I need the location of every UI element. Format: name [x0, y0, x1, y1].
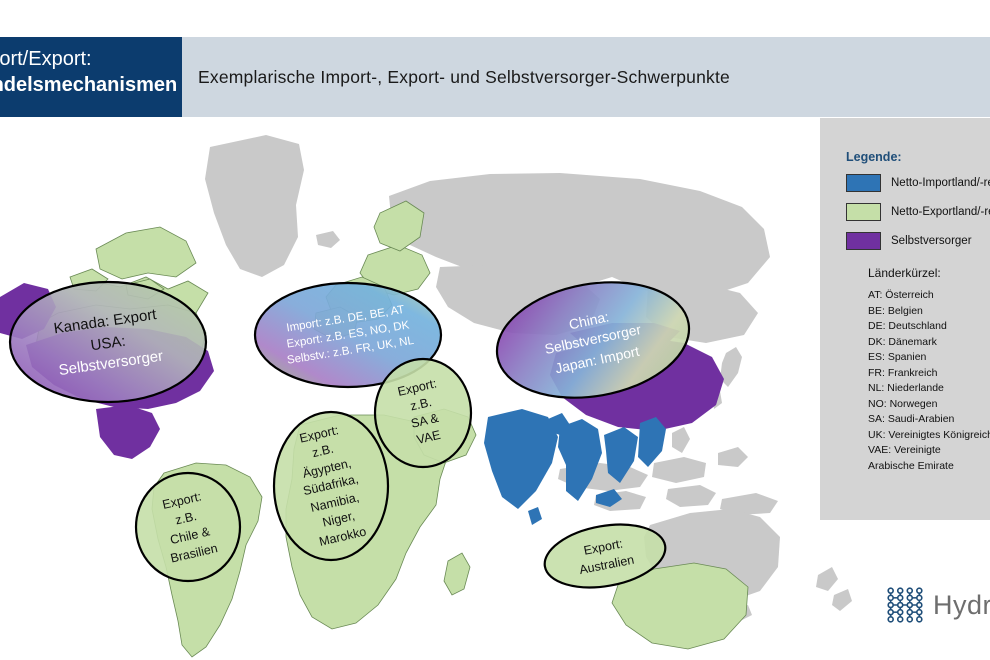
abbr-uk: UK: Vereinigtes Königreich — [868, 428, 990, 444]
abbr-es: ES: Spanien — [868, 350, 990, 366]
abbr-no: NO: Norwegen — [868, 397, 990, 413]
legend-item-import: Netto-Importland/-region — [846, 173, 990, 193]
slide-canvas: Import/Export: Handelsmechanismen Exempl… — [0, 0, 990, 660]
abbr-sa: SA: Saudi-Arabien — [868, 412, 990, 428]
legend-title: Legende: — [846, 150, 902, 164]
header-title-line2: Handelsmechanismen — [0, 72, 182, 98]
brand-logo: Hydro — [884, 582, 990, 628]
legend-panel: Legende: Netto-Importland/-region Netto-… — [820, 118, 990, 520]
legend-swatch-import — [846, 174, 881, 192]
callout-north-america[interactable]: Kanada: Export USA: Selbstversorger — [8, 280, 208, 405]
abbr-nl: NL: Niederlande — [868, 381, 990, 397]
legend-swatch-self — [846, 232, 881, 250]
callout-south-america[interactable]: Export: z.B. Chile & Brasilien — [134, 471, 242, 583]
abbreviations-title: Länderkürzel: — [868, 266, 941, 280]
logo-wordmark: Hydro — [933, 592, 990, 619]
legend-label-import: Netto-Importland/-region — [891, 177, 990, 189]
legend-swatch-export — [846, 203, 881, 221]
legend-item-self: Selbstversorger — [846, 231, 990, 251]
abbr-dk: DK: Dänemark — [868, 335, 990, 351]
callout-australia[interactable]: Export: Australien — [542, 520, 668, 592]
legend-label-self: Selbstversorger — [891, 235, 972, 247]
header-subtitle: Exemplarische Import-, Export- und Selbs… — [198, 37, 730, 117]
slide-header: Import/Export: Handelsmechanismen Exempl… — [0, 37, 990, 117]
header-title-block: Import/Export: Handelsmechanismen — [0, 37, 182, 117]
abbr-be: BE: Belgien — [868, 304, 990, 320]
abbreviations-list: AT: Österreich BE: Belgien DE: Deutschla… — [868, 288, 990, 474]
abbr-at: AT: Österreich — [868, 288, 990, 304]
header-title-line1: Import/Export: — [0, 46, 182, 72]
legend-label-export: Netto-Exportland/-region — [891, 206, 990, 218]
legend-items: Netto-Importland/-region Netto-Exportlan… — [846, 173, 990, 260]
abbr-vae: VAE: Vereinigte Arabische Emirate — [868, 443, 988, 474]
abbr-de: DE: Deutschland — [868, 319, 990, 335]
abbr-fr: FR: Frankreich — [868, 366, 990, 382]
callout-east-asia[interactable]: China: Selbstversorger Japan: Import — [493, 280, 693, 400]
callout-africa[interactable]: Export: z.B. Ägypten, Südafrika, Namibia… — [272, 410, 390, 562]
legend-item-export: Netto-Exportland/-region — [846, 202, 990, 222]
hydro-logo-icon — [884, 584, 926, 626]
